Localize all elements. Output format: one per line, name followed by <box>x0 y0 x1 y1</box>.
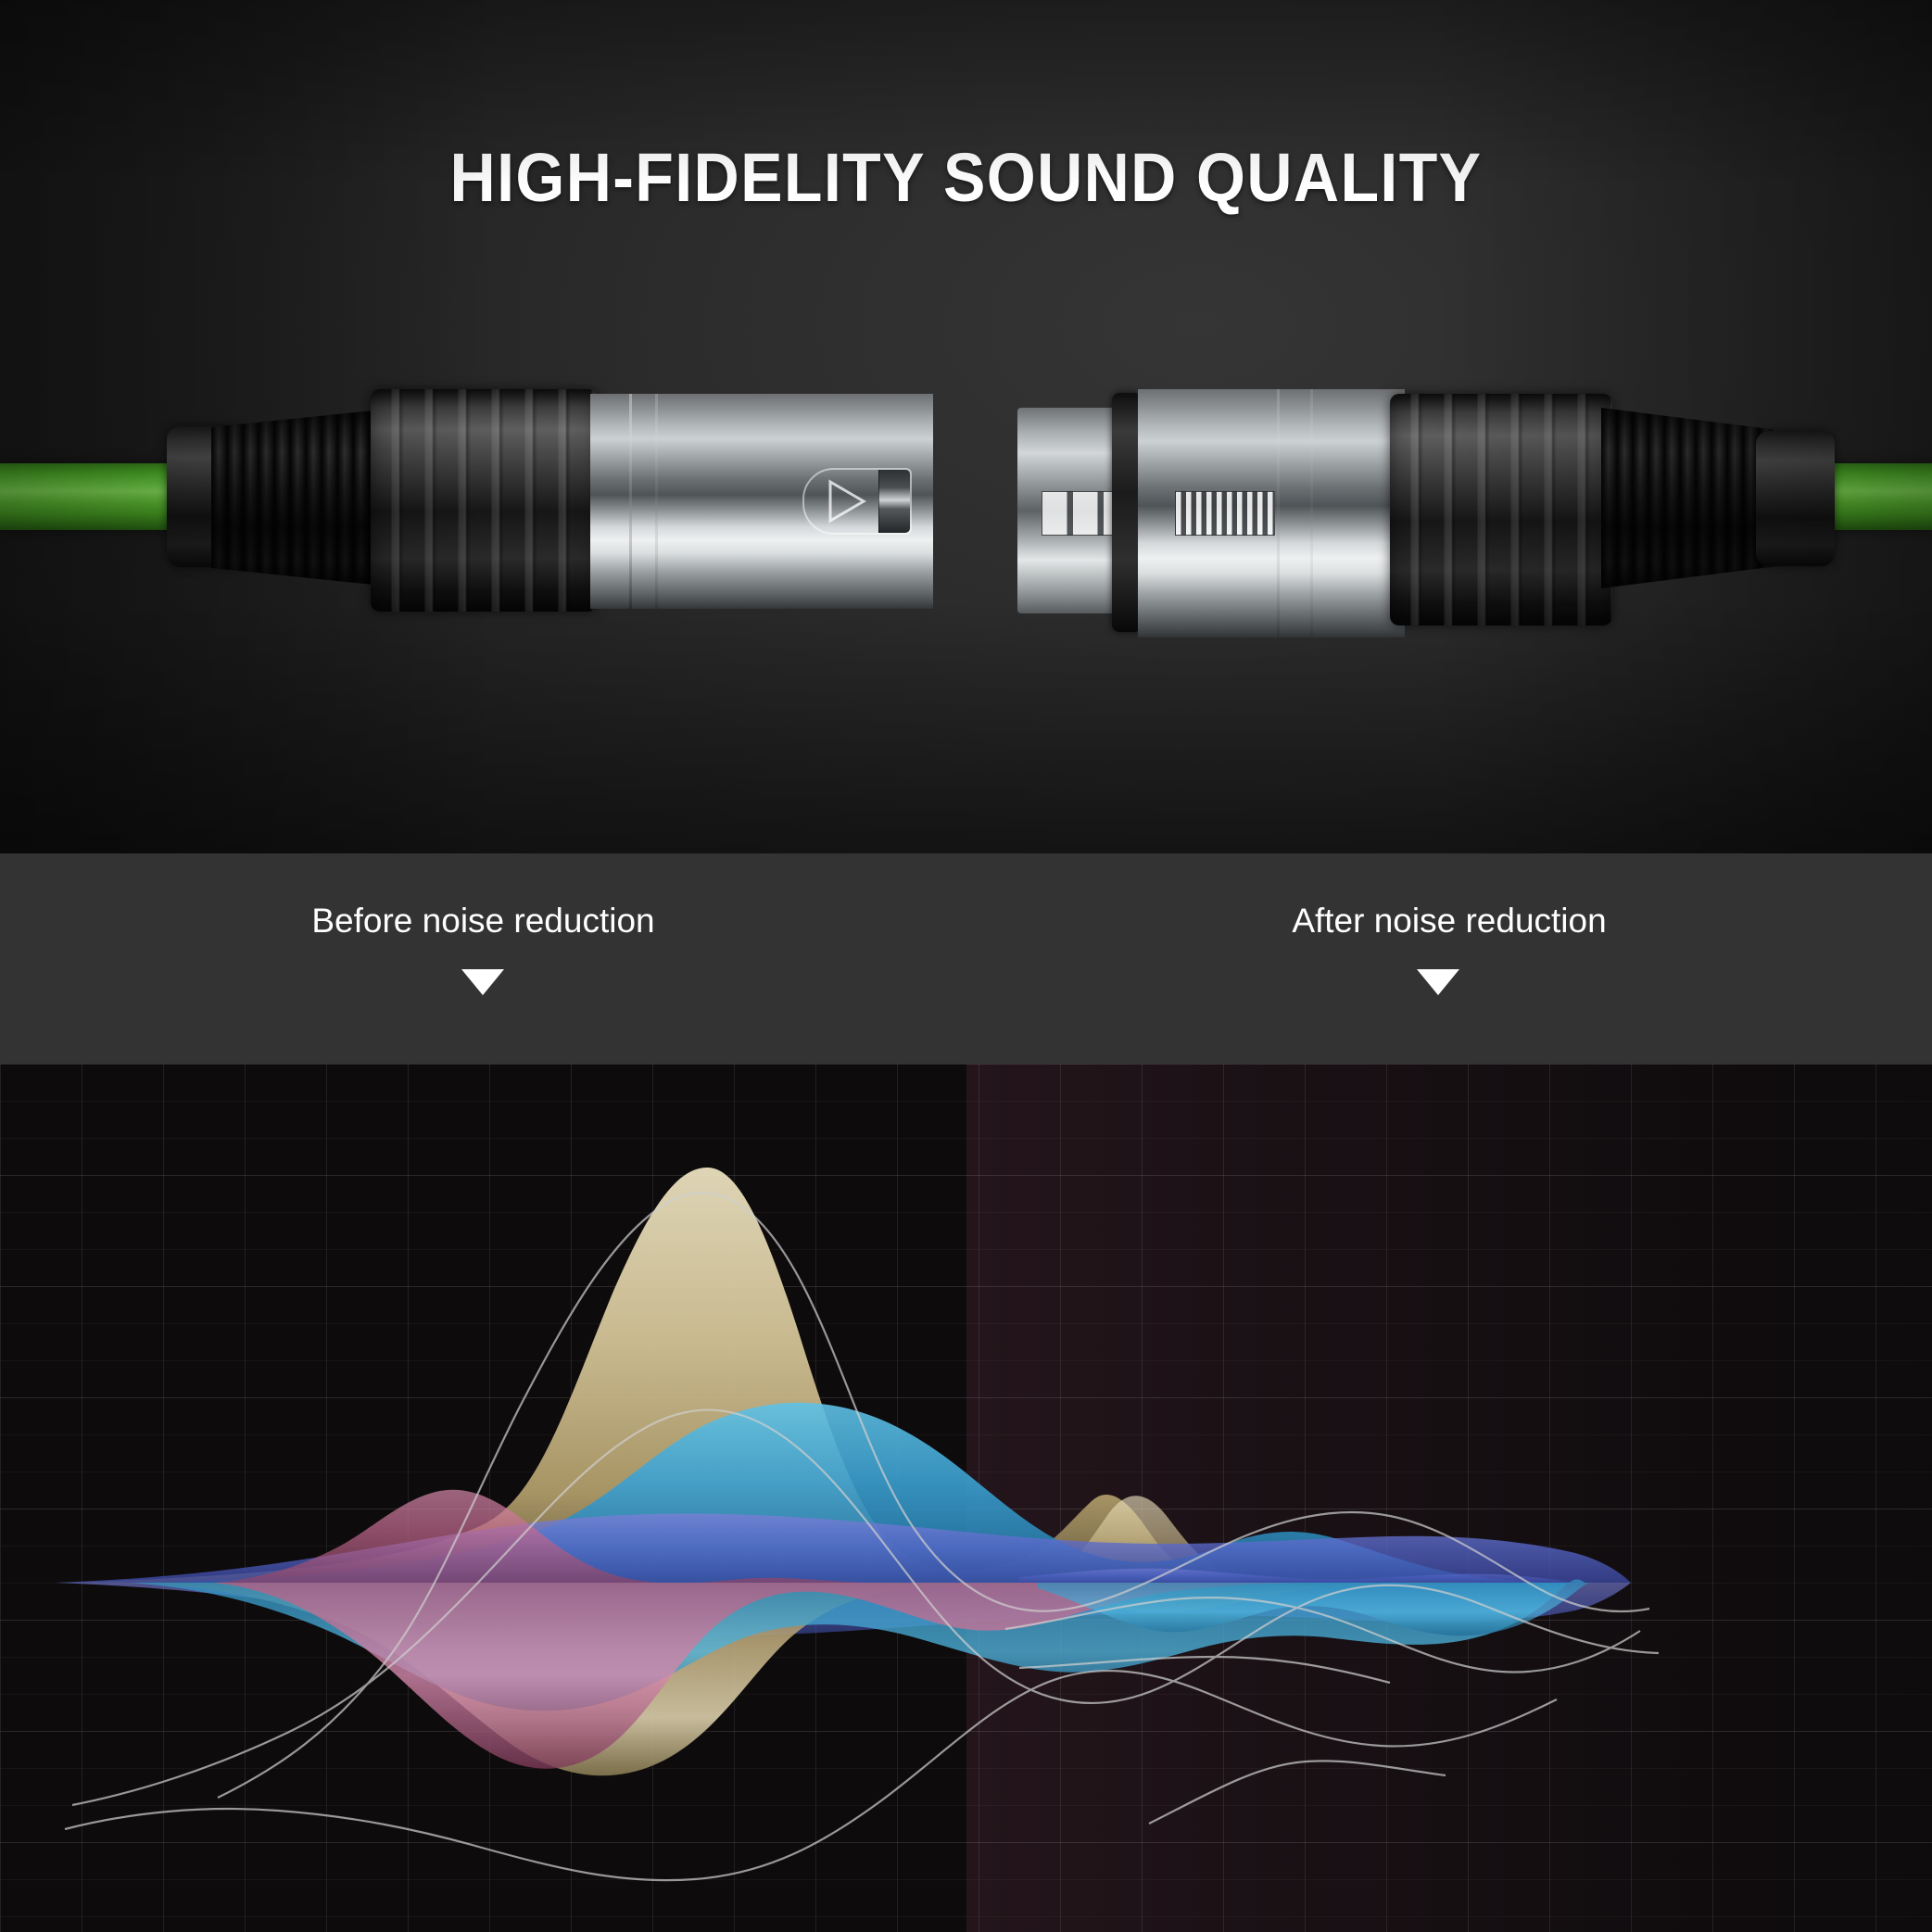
down-triangle-icon-after <box>1417 969 1459 995</box>
female-boot-cap <box>1756 431 1835 566</box>
hero-section: HIGH-FIDELITY SOUND QUALITY <box>0 0 1932 853</box>
noise-outline-3 <box>65 1671 1557 1880</box>
female-collar <box>1390 394 1612 625</box>
label-after-noise-reduction: After noise reduction <box>966 902 1932 941</box>
waveform-chart <box>0 1064 1932 1932</box>
female-endcap-slot <box>1042 491 1118 536</box>
waveform-series-mirror-group <box>56 1569 1631 1776</box>
xlr-female-connector <box>0 0 1932 853</box>
noise-outline-6 <box>1149 1761 1446 1824</box>
label-before-noise-reduction: Before noise reduction <box>0 902 966 941</box>
female-barrel-seam-2 <box>1310 389 1313 638</box>
female-barrel-seam <box>1277 389 1280 638</box>
female-barrel-slot <box>1175 491 1275 536</box>
product-marketing-page: HIGH-FIDELITY SOUND QUALITY <box>0 0 1932 1932</box>
comparison-strip: Before noise reduction After noise reduc… <box>0 853 1932 1064</box>
female-strain-relief <box>1601 408 1773 588</box>
waveform-panel <box>0 1064 1932 1932</box>
down-triangle-icon-before <box>461 969 504 995</box>
female-collar-slots <box>1390 394 1612 625</box>
